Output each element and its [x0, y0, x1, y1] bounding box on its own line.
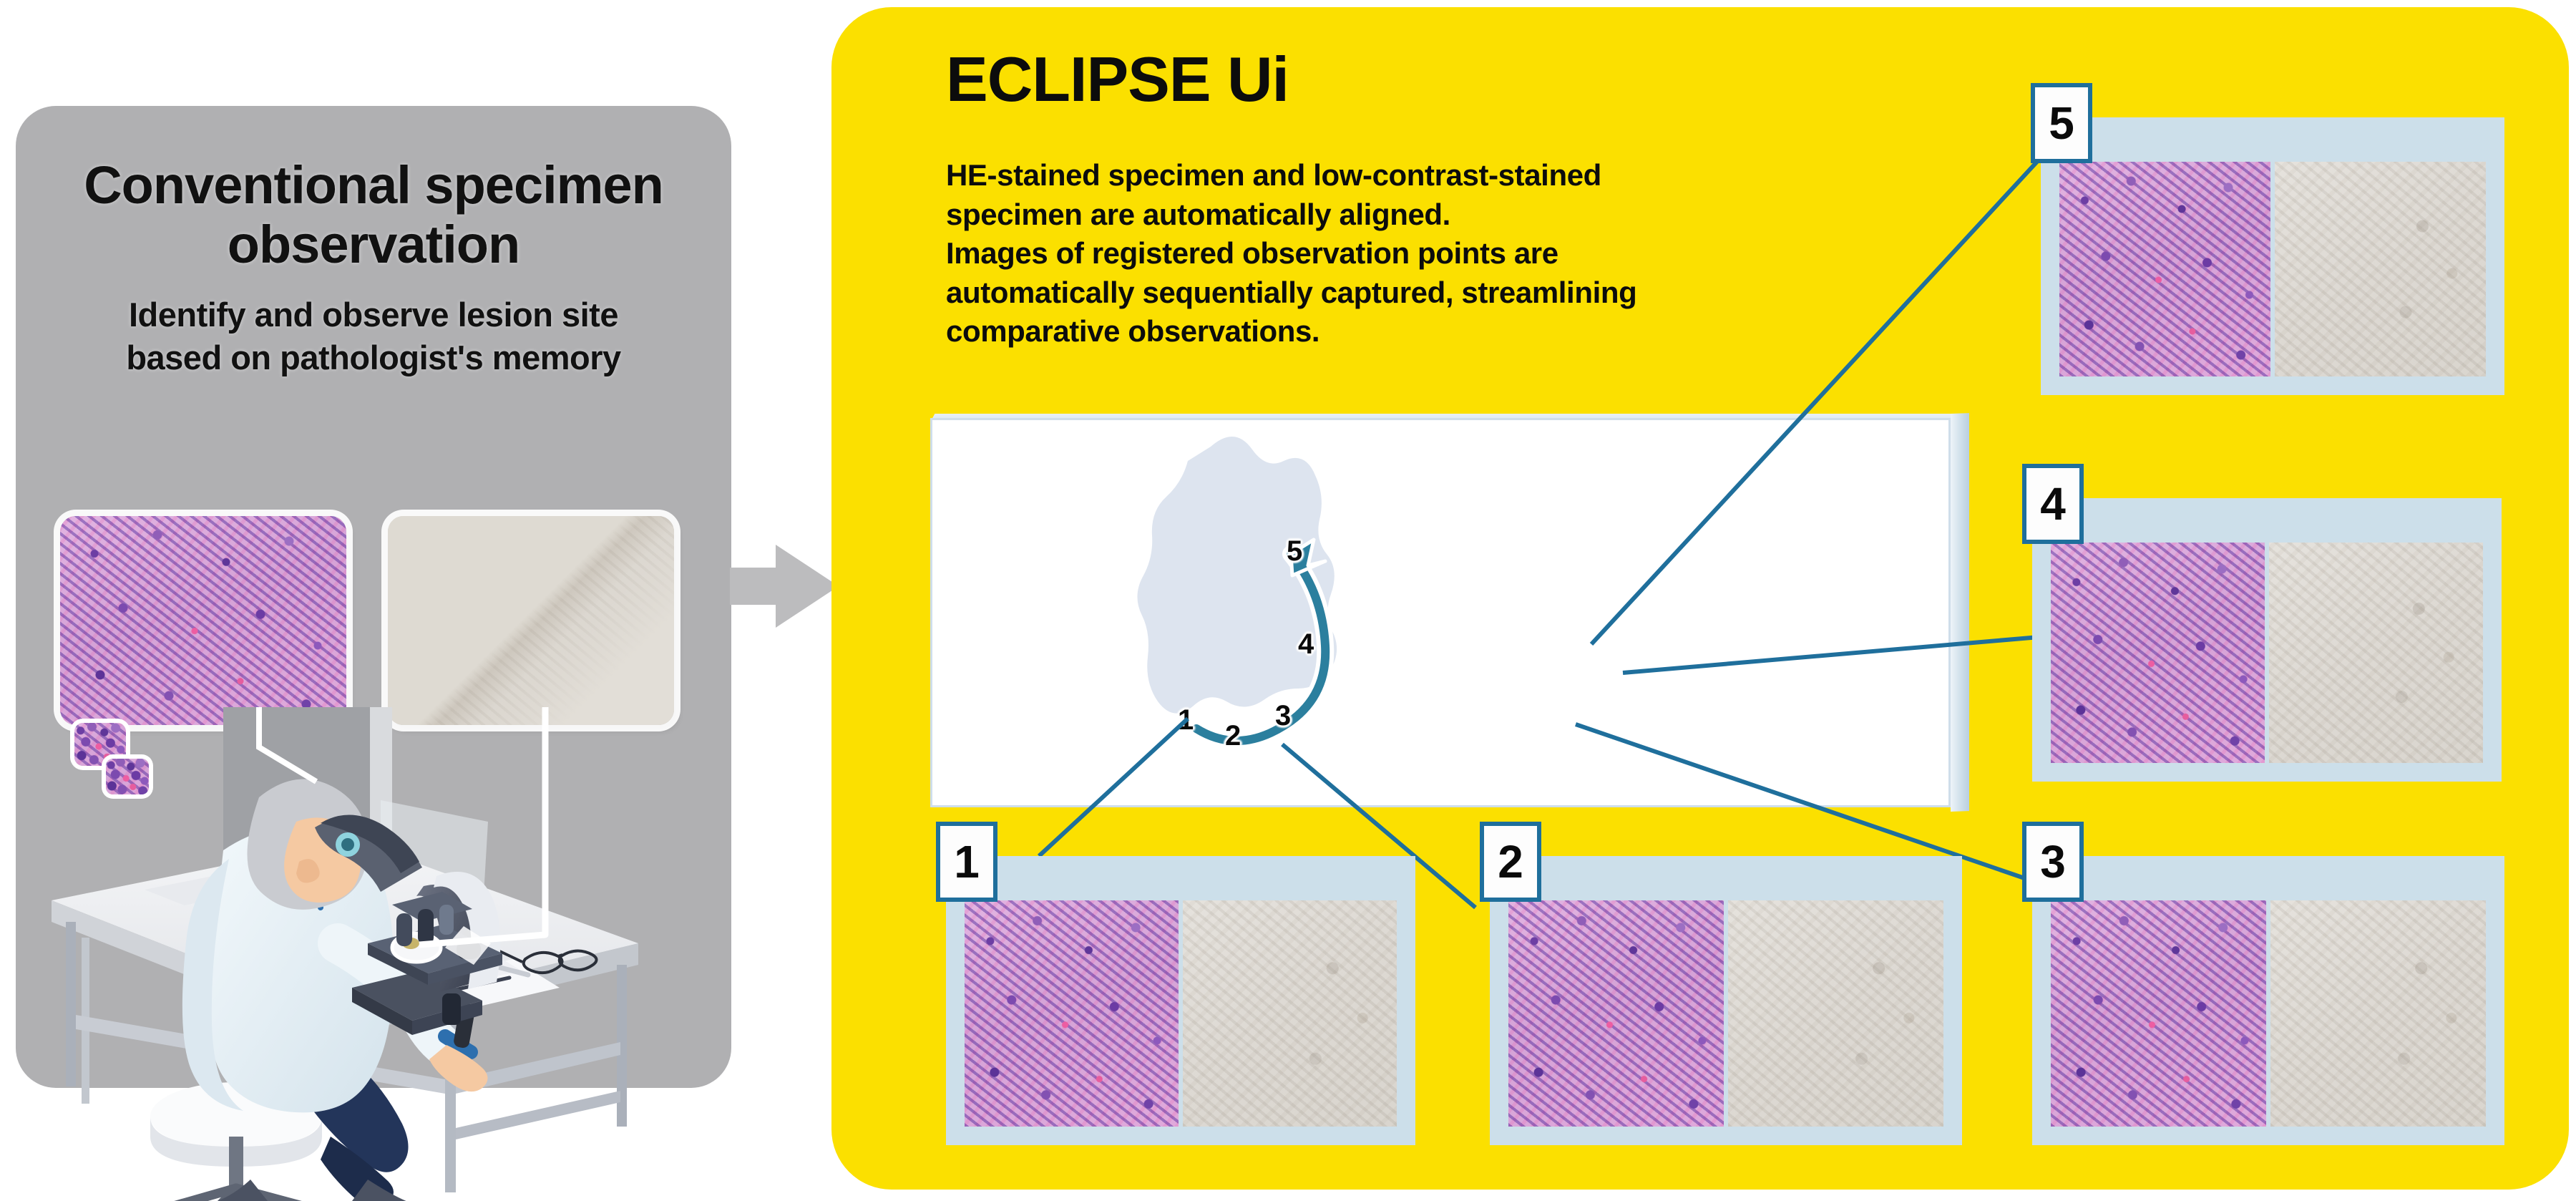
observation-card-2-badge: 2: [1480, 822, 1541, 902]
low-contrast-stained-thumbnail: [388, 516, 674, 725]
eclipse-desc-line-2: specimen are automatically aligned.: [946, 195, 1948, 235]
observation-card-2[interactable]: 2: [1490, 856, 1962, 1145]
observation-card-5-badge: 5: [2031, 83, 2092, 163]
observation-card-2-he-image: [1508, 900, 1724, 1127]
eclipse-ui-title: ECLIPSE Ui: [946, 43, 1289, 116]
conventional-panel-subtitle-line2: based on pathologist's memory: [16, 336, 731, 379]
observation-card-2-lowcontrast-image: [1728, 900, 1943, 1127]
observation-card-1[interactable]: 1: [946, 856, 1415, 1145]
eclipse-desc-line-5: comparative observations.: [946, 312, 1948, 351]
conventional-panel-subtitle-line1: Identify and observe lesion site: [16, 293, 731, 336]
observation-card-4[interactable]: 4: [2032, 498, 2502, 782]
he-stained-texture: [60, 516, 346, 725]
observation-card-5-he-image: [2059, 162, 2270, 376]
observation-card-3-he-image: [2051, 900, 2266, 1127]
observation-point-5[interactable]: 5: [1287, 535, 1302, 568]
observation-point-2[interactable]: 2: [1225, 720, 1241, 752]
observation-route-overlay: [930, 414, 1975, 812]
observation-card-4-he-image: [2051, 543, 2265, 763]
observation-point-1[interactable]: 1: [1178, 704, 1194, 736]
observation-card-4-badge: 4: [2022, 464, 2084, 544]
conventional-panel-title-line1: Conventional specimen: [16, 156, 731, 215]
eclipse-ui-description: HE-stained specimen and low-contrast-sta…: [946, 156, 1948, 351]
specimen-slide-viewer[interactable]: 1 2 3 4 5: [930, 414, 1975, 812]
observation-card-1-badge: 1: [936, 822, 997, 902]
he-slide-chip-small: [106, 759, 149, 794]
he-stained-thumbnail: [60, 516, 346, 725]
flow-right-arrow: [730, 533, 844, 641]
conventional-observation-panel: Conventional specimen observation Identi…: [16, 106, 731, 1088]
low-contrast-stained-texture: [388, 516, 674, 725]
observation-card-3-lowcontrast-image: [2270, 900, 2486, 1127]
observation-card-4-lowcontrast-image: [2269, 543, 2483, 763]
observation-card-5[interactable]: 5: [2041, 117, 2504, 395]
conventional-panel-subtitle: Identify and observe lesion site based o…: [16, 293, 731, 379]
observation-point-4[interactable]: 4: [1298, 628, 1314, 661]
eclipse-desc-line-3: Images of registered observation points …: [946, 234, 1948, 273]
observation-point-3[interactable]: 3: [1275, 700, 1291, 732]
conventional-panel-title-line2: observation: [16, 215, 731, 275]
observation-card-1-he-image: [965, 900, 1179, 1127]
eclipse-desc-line-1: HE-stained specimen and low-contrast-sta…: [946, 156, 1948, 195]
observation-card-1-lowcontrast-image: [1183, 900, 1397, 1127]
observation-card-5-lowcontrast-image: [2275, 162, 2486, 376]
observation-card-3-badge: 3: [2022, 822, 2084, 902]
conventional-panel-title: Conventional specimen observation: [16, 156, 731, 275]
figure-canvas: Conventional specimen observation Identi…: [0, 0, 2576, 1198]
eclipse-desc-line-4: automatically sequentially captured, str…: [946, 273, 1948, 313]
observation-card-3[interactable]: 3: [2032, 856, 2504, 1145]
